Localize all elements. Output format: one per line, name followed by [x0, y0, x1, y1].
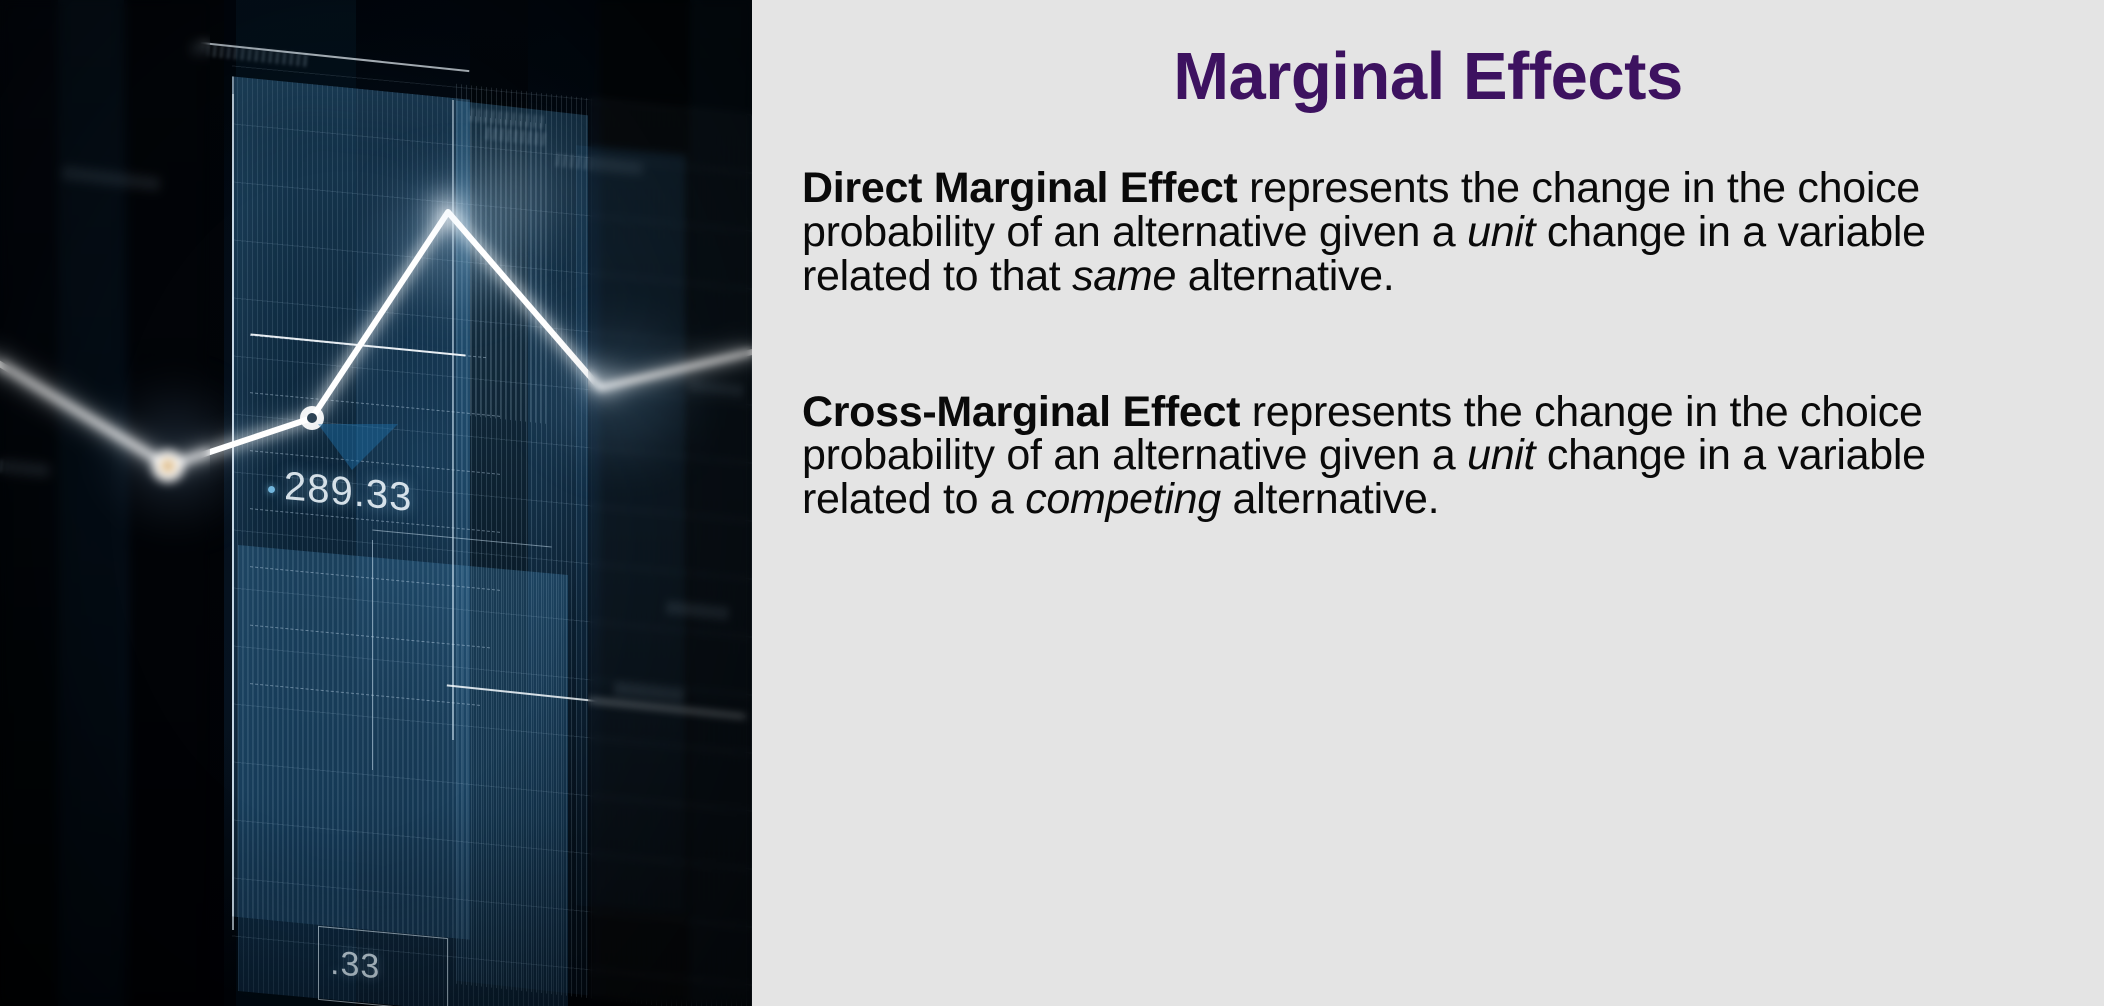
- paragraph-1-text-3: alternative.: [1176, 252, 1394, 300]
- paragraph-1-emphasis-1: unit: [1467, 208, 1535, 256]
- chart-node-inner-1: [161, 459, 175, 473]
- paragraph-1-emphasis-2: same: [1072, 252, 1176, 300]
- paragraph-direct-marginal-effect: Direct Marginal Effect represents the ch…: [802, 167, 2048, 299]
- slide-root: 289.33 .33 Marginal Effects Direct Margi…: [0, 0, 2104, 1006]
- financial-chart-photo: 289.33 .33: [0, 0, 752, 1006]
- page-title: Marginal Effects: [752, 38, 2104, 115]
- chart-value-readout-secondary: .33: [330, 944, 380, 988]
- content-panel: Marginal Effects Direct Marginal Effect …: [752, 0, 2104, 1006]
- paragraph-2-emphasis-1: unit: [1467, 431, 1535, 479]
- paragraph-cross-marginal-effect: Cross-Marginal Effect represents the cha…: [802, 391, 2048, 523]
- chart-area-accent: [318, 424, 398, 470]
- paragraph-2-lead-term: Cross-Marginal Effect: [802, 388, 1240, 436]
- data-point-dot: [268, 486, 275, 493]
- chart-node-marker-4: [588, 366, 620, 398]
- paragraph-2-text-3: alternative.: [1221, 475, 1439, 523]
- chart-node-marker-3: [429, 193, 467, 231]
- paragraph-1-lead-term: Direct Marginal Effect: [802, 164, 1237, 212]
- paragraph-2-emphasis-2: competing: [1025, 475, 1221, 523]
- body-text-container: Direct Marginal Effect represents the ch…: [752, 167, 2104, 522]
- chart-node-inner-2: [307, 413, 317, 423]
